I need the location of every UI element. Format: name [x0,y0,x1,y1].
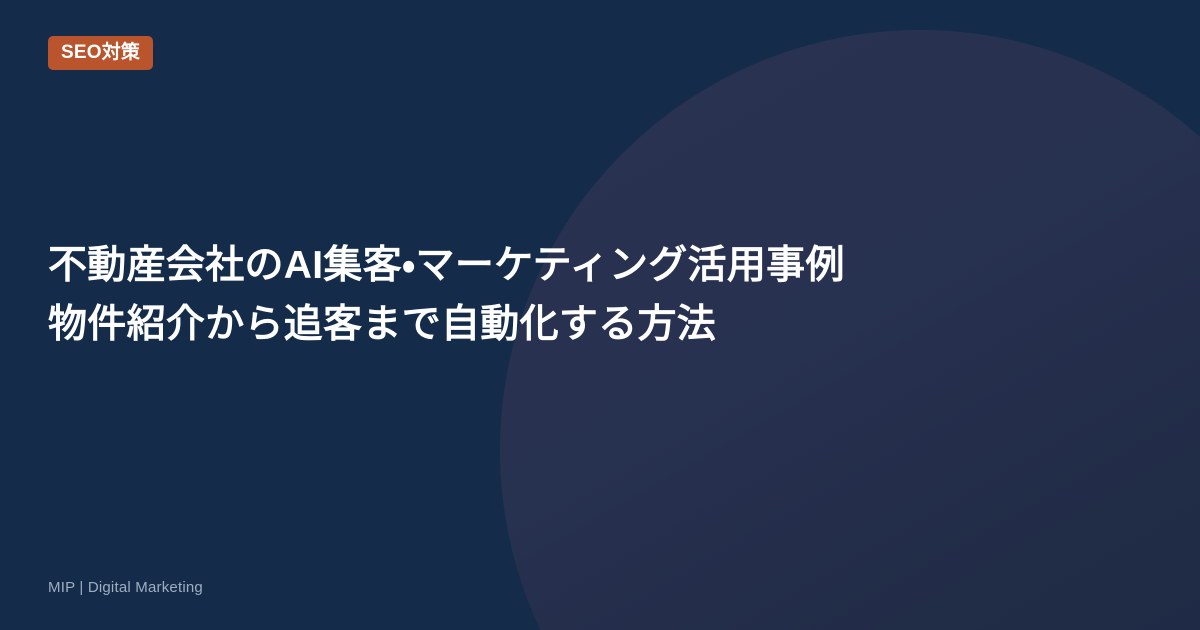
page-title: 不動産会社のAI集客・マーケティング活用事例 物件紹介から追客まで自動化する方法 [48,236,948,354]
page-title-line-2: 物件紹介から追客まで自動化する方法 [48,295,948,354]
footer: MIP | Digital Marketing [48,579,203,597]
page-title-line-1: 不動産会社のAI集客・マーケティング活用事例 [48,236,948,295]
category-badge: SEO対策 [48,36,153,70]
footer-brand-label: MIP | Digital Marketing [48,579,203,597]
badge-row: SEO対策 [48,36,153,70]
og-card: SEO対策 不動産会社のAI集客・マーケティング活用事例 物件紹介から追客まで自… [0,0,1200,630]
